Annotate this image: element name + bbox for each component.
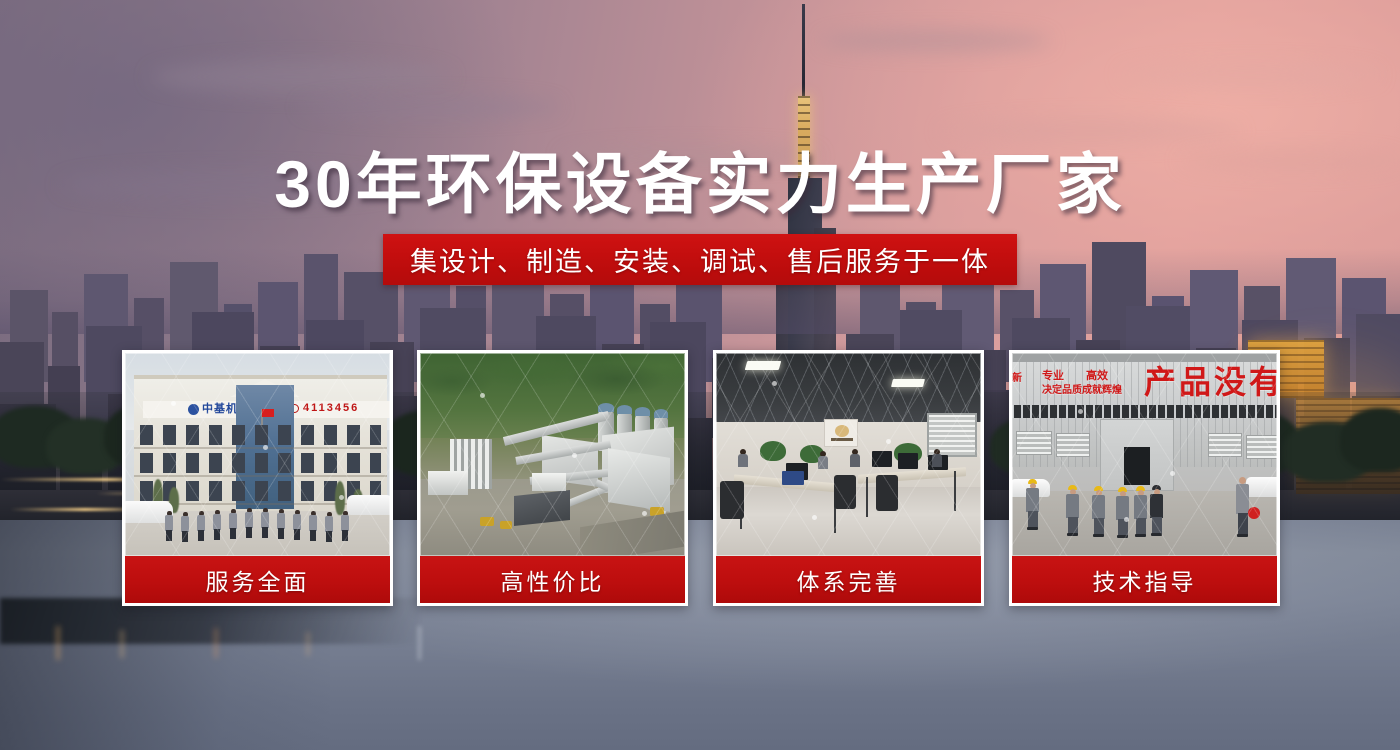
monitor	[872, 451, 892, 467]
promo-banner: 30年环保设备实力生产厂家 集设计、制造、安装、调试、售后服务于一体 中基机械 …	[0, 0, 1400, 750]
chair	[834, 475, 856, 509]
office-plant	[760, 441, 786, 461]
page-title: 30年环保设备实力生产厂家	[0, 131, 1400, 227]
card-1-caption: 服务全面	[125, 556, 390, 603]
card-4-caption-text: 技术指导	[1093, 563, 1197, 597]
ceiling-light	[891, 379, 925, 387]
factory-slogan-5: 新	[1012, 369, 1022, 384]
card-4-photo: 新 专业 决定品质 高效 成就辉煌 产品没有	[1012, 353, 1277, 556]
factory-slogan-main: 产品没有	[1144, 357, 1277, 403]
excavator	[500, 521, 512, 529]
chair	[876, 475, 898, 511]
tower-spire	[802, 4, 805, 100]
feature-card-row: 中基机械 4113456	[0, 350, 1400, 606]
card-3-photo	[716, 353, 981, 556]
subtitle-banner: 集设计、制造、安装、调试、售后服务于一体	[383, 234, 1017, 285]
card-4-caption: 技术指导	[1012, 556, 1277, 603]
card-2-caption-text: 高性价比	[501, 563, 605, 597]
card-1-photo: 中基机械 4113456	[125, 353, 390, 556]
factory-slogan-4: 成就辉煌	[1082, 381, 1122, 396]
company-sign-phone: 4113456	[303, 402, 359, 414]
chair	[720, 481, 744, 519]
company-logo-icon	[188, 404, 199, 415]
card-3-caption: 体系完善	[716, 556, 981, 603]
parked-car	[347, 495, 390, 515]
monitor	[898, 453, 918, 469]
subtitle-text: 集设计、制造、安装、调试、售后服务于一体	[410, 240, 990, 279]
red-helmet	[1248, 507, 1260, 519]
card-2-photo	[420, 353, 685, 556]
card-2-caption: 高性价比	[420, 556, 685, 603]
feature-card-2[interactable]: 高性价比	[417, 350, 688, 606]
feature-card-1[interactable]: 中基机械 4113456	[122, 350, 393, 606]
ceiling-light	[745, 361, 782, 370]
feature-card-4[interactable]: 新 专业 决定品质 高效 成就辉煌 产品没有	[1009, 350, 1280, 606]
wall-poster	[824, 419, 858, 447]
shed	[514, 490, 570, 526]
card-3-caption-text: 体系完善	[797, 563, 901, 597]
feature-card-3[interactable]: 体系完善	[713, 350, 984, 606]
card-1-caption-text: 服务全面	[206, 563, 310, 597]
excavator	[480, 517, 494, 526]
parked-car	[1246, 477, 1277, 497]
factory-slogan-2: 决定品质	[1042, 381, 1082, 396]
laptop	[782, 471, 804, 485]
